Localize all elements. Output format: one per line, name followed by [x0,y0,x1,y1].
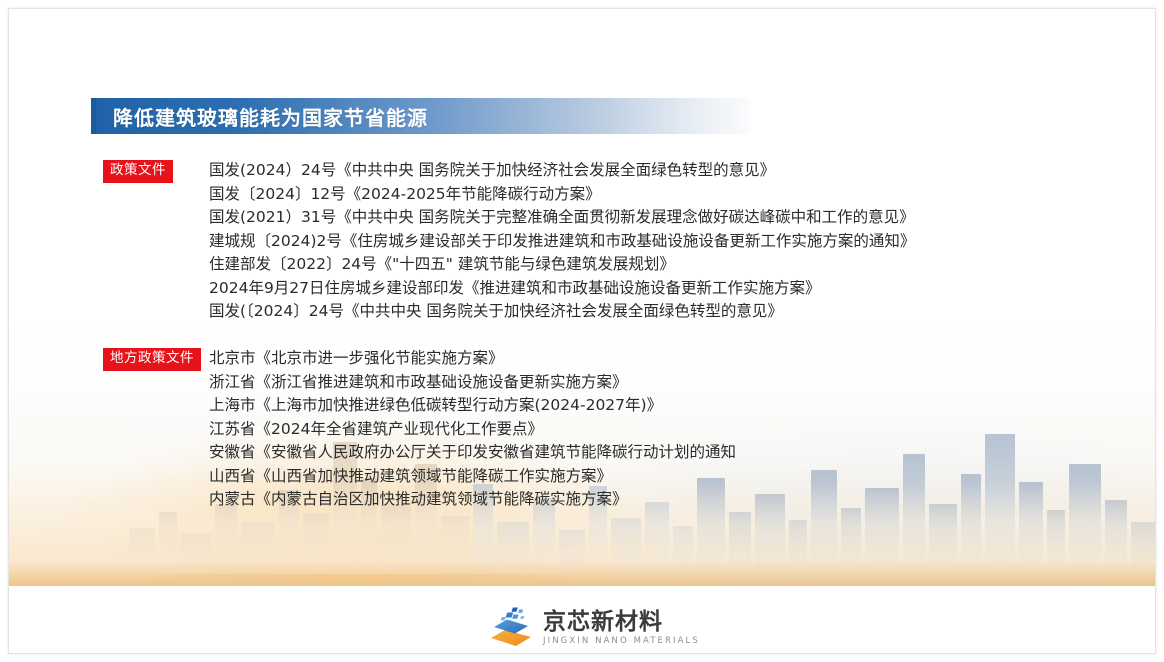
list-item: 国发(2021）31号《中共中央 国务院关于完整准确全面贯彻新发展理念做好碳达峰… [209,206,915,230]
logo-name-cn: 京芯新材料 [543,610,700,635]
list-item: 内蒙古《内蒙古自治区加快推动建筑领域节能降碳实施方案》 [209,488,736,512]
list-item: 住建部发〔2022〕24号《"十四五" 建筑节能与绿色建筑发展规划》 [209,253,915,277]
status-badge-local-policy-documents: 地方政策文件 [103,348,201,371]
list-item: 上海市《上海市加快推进绿色低碳转型行动方案(2024-2027年)》 [209,394,736,418]
list-item: 江苏省《2024年全省建筑产业现代化工作要点》 [209,418,736,442]
logo-mark-icon [488,607,534,649]
list-item: 国发〔2024〕12号《2024-2025年节能降碳行动方案》 [209,183,915,207]
list-item: 2024年9月27日住房城乡建设部印发《推进建筑和市政基础设施设备更新工作实施方… [209,277,915,301]
list-item: 国发(2024）24号《中共中央 国务院关于加快经济社会发展全面绿色转型的意见》 [209,159,915,183]
page-title: 降低建筑玻璃能耗为国家节省能源 [113,102,428,131]
heading-accent-bar [91,98,96,134]
list-item: 安徽省《安徽省人民政府办公厅关于印发安徽省建筑节能降碳行动计划的通知 [209,441,736,465]
policy-document-list: 国发(2024）24号《中共中央 国务院关于加快经济社会发展全面绿色转型的意见》… [209,159,915,324]
list-item: 浙江省《浙江省推进建筑和市政基础设施设备更新实施方案》 [209,371,736,395]
list-item: 建城规〔2024)2号《住房城乡建设部关于印发推进建筑和市政基础设施设备更新工作… [209,230,915,254]
list-item: 国发(〔2024〕24号《中共中央 国务院关于加快经济社会发展全面绿色转型的意见… [209,300,915,324]
logo-text: 京芯新材料 JINGXIN NANO MATERIALS [543,610,700,647]
presentation-slide: 降低建筑玻璃能耗为国家节省能源 政策文件 国发(2024）24号《中共中央 国务… [8,8,1156,654]
logo-name-en: JINGXIN NANO MATERIALS [543,636,700,647]
company-logo: 京芯新材料 JINGXIN NANO MATERIALS [488,607,700,649]
local-policy-document-list: 北京市《北京市进一步强化节能实施方案》 浙江省《浙江省推进建筑和市政基础设施设备… [209,347,736,512]
photo-bottom-glow [9,560,1155,586]
status-badge-policy-documents: 政策文件 [103,160,173,183]
list-item: 山西省《山西省加快推动建筑领域节能降碳工作实施方案》 [209,465,736,489]
slide-screen: 降低建筑玻璃能耗为国家节省能源 政策文件 国发(2024）24号《中共中央 国务… [0,0,1164,662]
slide-heading-bar: 降低建筑玻璃能耗为国家节省能源 [91,98,751,134]
list-item: 北京市《北京市进一步强化节能实施方案》 [209,347,736,371]
